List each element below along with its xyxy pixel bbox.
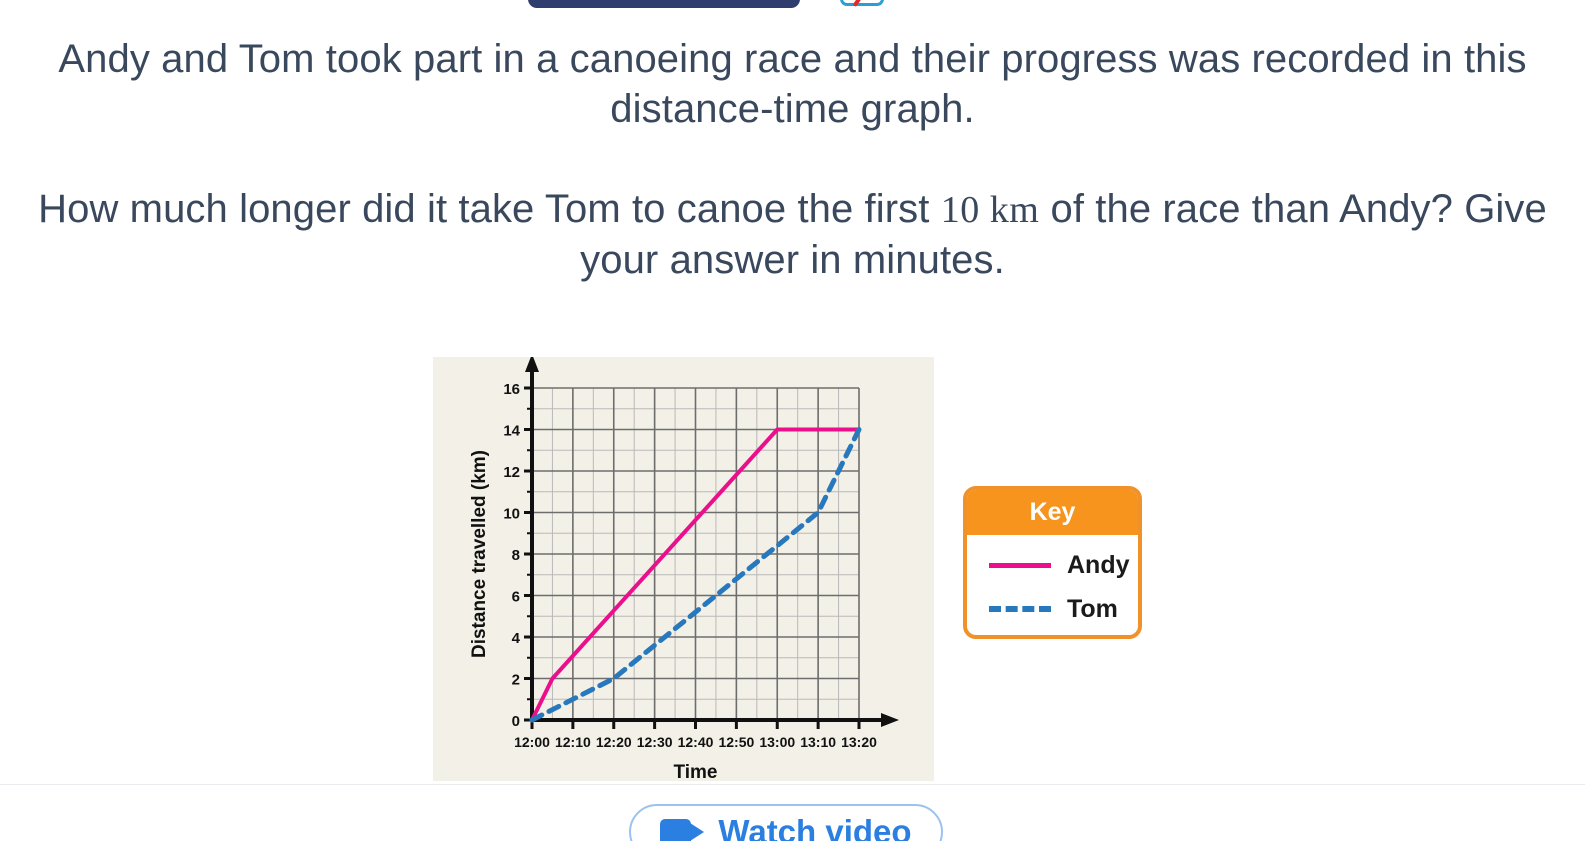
svg-text:12:10: 12:10 <box>555 734 591 750</box>
svg-text:16: 16 <box>503 381 520 398</box>
svg-text:14: 14 <box>503 423 520 440</box>
calculator-status-label: not allowed <box>893 0 989 4</box>
svg-text:4: 4 <box>512 630 521 647</box>
page-root: not allowed Andy and Tom took part in a … <box>0 0 1585 841</box>
top-toolbar: not allowed <box>0 0 1585 16</box>
svg-text:12:20: 12:20 <box>596 734 632 750</box>
svg-text:12:40: 12:40 <box>678 734 714 750</box>
svg-text:0: 0 <box>512 713 520 730</box>
watch-video-button[interactable]: Watch video <box>629 804 943 841</box>
question-p2-math: 10 km <box>941 189 1040 231</box>
svg-text:Time: Time <box>673 762 717 781</box>
svg-text:12:30: 12:30 <box>637 734 673 750</box>
chart-key-box: Key Andy Tom <box>963 486 1142 639</box>
svg-text:10: 10 <box>503 506 520 523</box>
question-paragraph-2: How much longer did it take Tom to canoe… <box>0 184 1585 285</box>
svg-text:13:20: 13:20 <box>841 734 877 750</box>
question-p2-before: How much longer did it take Tom to canoe… <box>38 187 941 231</box>
video-camera-icon <box>660 819 704 841</box>
calculator-not-allowed-icon <box>840 0 884 6</box>
distance-time-chart: 024681012141612:0012:1012:2012:3012:4012… <box>433 357 934 781</box>
question-text: Andy and Tom took part in a canoeing rac… <box>0 34 1585 285</box>
svg-text:13:00: 13:00 <box>759 734 795 750</box>
watch-video-label: Watch video <box>718 813 911 841</box>
calculator-status: not allowed <box>840 0 989 6</box>
question-paragraph-1: Andy and Tom took part in a canoeing rac… <box>0 34 1585 134</box>
key-entry-andy: Andy <box>967 543 1138 587</box>
key-label-tom: Tom <box>1067 595 1118 624</box>
footer-divider <box>0 784 1585 785</box>
svg-text:6: 6 <box>512 589 520 606</box>
distance-time-graph-figure: 024681012141612:0012:1012:2012:3012:4012… <box>433 357 934 781</box>
svg-text:12: 12 <box>503 464 520 481</box>
svg-text:12:50: 12:50 <box>718 734 754 750</box>
key-entry-tom: Tom <box>967 587 1138 631</box>
svg-text:2: 2 <box>512 672 520 689</box>
primary-action-button[interactable] <box>528 0 800 8</box>
tom-line-swatch-icon <box>989 606 1051 612</box>
svg-text:8: 8 <box>512 547 520 564</box>
svg-text:Distance travelled (km): Distance travelled (km) <box>469 450 490 658</box>
key-label-andy: Andy <box>1067 551 1130 580</box>
svg-text:13:10: 13:10 <box>800 734 836 750</box>
svg-text:12:00: 12:00 <box>514 734 550 750</box>
key-entries: Andy Tom <box>967 535 1138 631</box>
key-title: Key <box>967 490 1138 535</box>
andy-line-swatch-icon <box>989 563 1051 568</box>
